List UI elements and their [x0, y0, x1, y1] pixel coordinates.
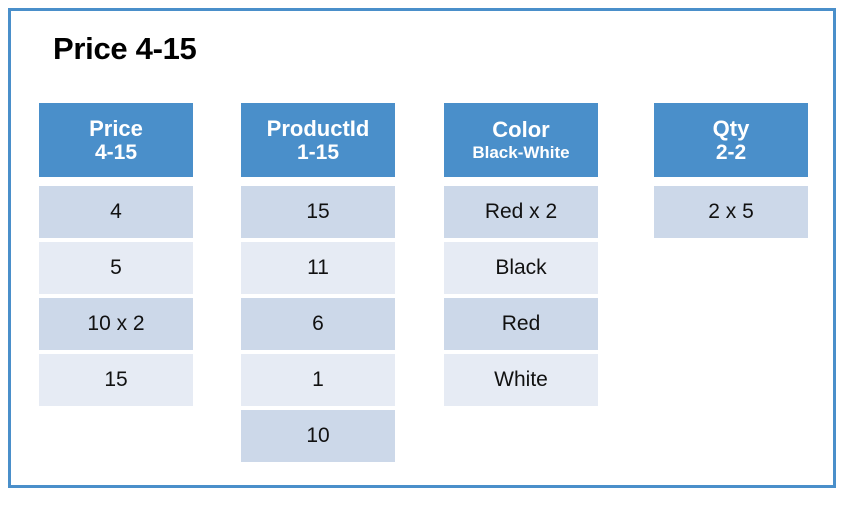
- column-header-subtitle: 4-15: [95, 141, 137, 165]
- list-item[interactable]: 1: [241, 354, 395, 406]
- column-header-price: Price 4-15: [39, 103, 193, 177]
- list-item[interactable]: 6: [241, 298, 395, 350]
- column-header-subtitle: 2-2: [716, 141, 746, 165]
- list-item[interactable]: 5: [39, 242, 193, 294]
- column-header-title: ProductId: [267, 116, 370, 141]
- column-color: Color Black-White Red x 2 Black Red Whit…: [444, 103, 598, 410]
- column-header-color: Color Black-White: [444, 103, 598, 177]
- list-item[interactable]: Red: [444, 298, 598, 350]
- list-item[interactable]: 11: [241, 242, 395, 294]
- column-price: Price 4-15 4 5 10 x 2 15: [39, 103, 193, 410]
- column-qty: Qty 2-2 2 x 5: [654, 103, 808, 242]
- list-item[interactable]: Red x 2: [444, 186, 598, 238]
- list-item[interactable]: 2 x 5: [654, 186, 808, 238]
- column-header-subtitle: Black-White: [472, 142, 569, 164]
- list-item[interactable]: 10 x 2: [39, 298, 193, 350]
- list-item[interactable]: 15: [241, 186, 395, 238]
- list-item[interactable]: 4: [39, 186, 193, 238]
- column-group: Price 4-15 4 5 10 x 2 15 ProductId 1-15 …: [39, 103, 829, 473]
- page-title: Price 4-15: [53, 31, 197, 67]
- column-header-subtitle: 1-15: [297, 141, 339, 165]
- list-item[interactable]: White: [444, 354, 598, 406]
- column-header-title: Color: [492, 117, 549, 142]
- list-item[interactable]: 10: [241, 410, 395, 462]
- list-item[interactable]: Black: [444, 242, 598, 294]
- column-header-title: Price: [89, 116, 143, 141]
- column-header-title: Qty: [713, 116, 750, 141]
- column-productid: ProductId 1-15 15 11 6 1 10: [241, 103, 395, 466]
- slide-frame: Price 4-15 Price 4-15 4 5 10 x 2 15 Prod…: [8, 8, 836, 488]
- column-header-qty: Qty 2-2: [654, 103, 808, 177]
- column-header-productid: ProductId 1-15: [241, 103, 395, 177]
- list-item[interactable]: 15: [39, 354, 193, 406]
